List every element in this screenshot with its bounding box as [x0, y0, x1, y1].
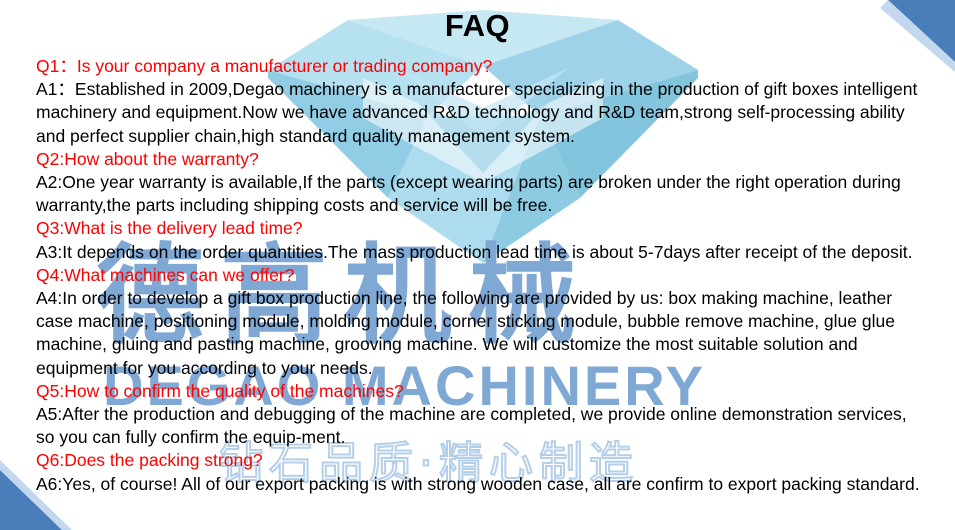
faq-question: Q6:Does the packing strong?	[36, 449, 924, 472]
faq-question: Q3:What is the delivery lead time?	[36, 217, 924, 240]
faq-item-q3: Q3:What is the delivery lead time? A3:It…	[36, 217, 924, 263]
faq-answer: A3:It depends on the order quantities.Th…	[36, 241, 924, 264]
faq-question: Q4:What machines can we offer?	[36, 264, 924, 287]
faq-answer: A4:In order to develop a gift box produc…	[36, 287, 924, 380]
faq-item-q2: Q2:How about the warranty? A2:One year w…	[36, 148, 924, 218]
faq-question: Q1：Is your company a manufacturer or tra…	[36, 55, 924, 78]
faq-slide: 德高机械 DEGAO MACHINERY 钻石品质·精心制造 FAQ Q1：Is…	[0, 0, 955, 530]
faq-item-q4: Q4:What machines can we offer? A4:In ord…	[36, 264, 924, 380]
faq-answer: A5:After the production and debugging of…	[36, 403, 924, 449]
faq-item-q6: Q6:Does the packing strong? A6:Yes, of c…	[36, 449, 924, 495]
faq-answer: A6:Yes, of course! All of our export pac…	[36, 473, 924, 496]
faq-question: Q5:How to confirm the quality of the mac…	[36, 380, 924, 403]
faq-item-q1: Q1：Is your company a manufacturer or tra…	[36, 55, 924, 148]
faq-item-q5: Q5:How to confirm the quality of the mac…	[36, 380, 924, 450]
faq-question: Q2:How about the warranty?	[36, 148, 924, 171]
slide-content: FAQ Q1：Is your company a manufacturer or…	[0, 0, 955, 530]
faq-answer: A2:One year warranty is available,If the…	[36, 171, 924, 217]
page-title: FAQ	[0, 8, 955, 44]
faq-answer: A1：Established in 2009,Degao machinery i…	[36, 78, 924, 148]
faq-list: Q1：Is your company a manufacturer or tra…	[36, 55, 924, 496]
